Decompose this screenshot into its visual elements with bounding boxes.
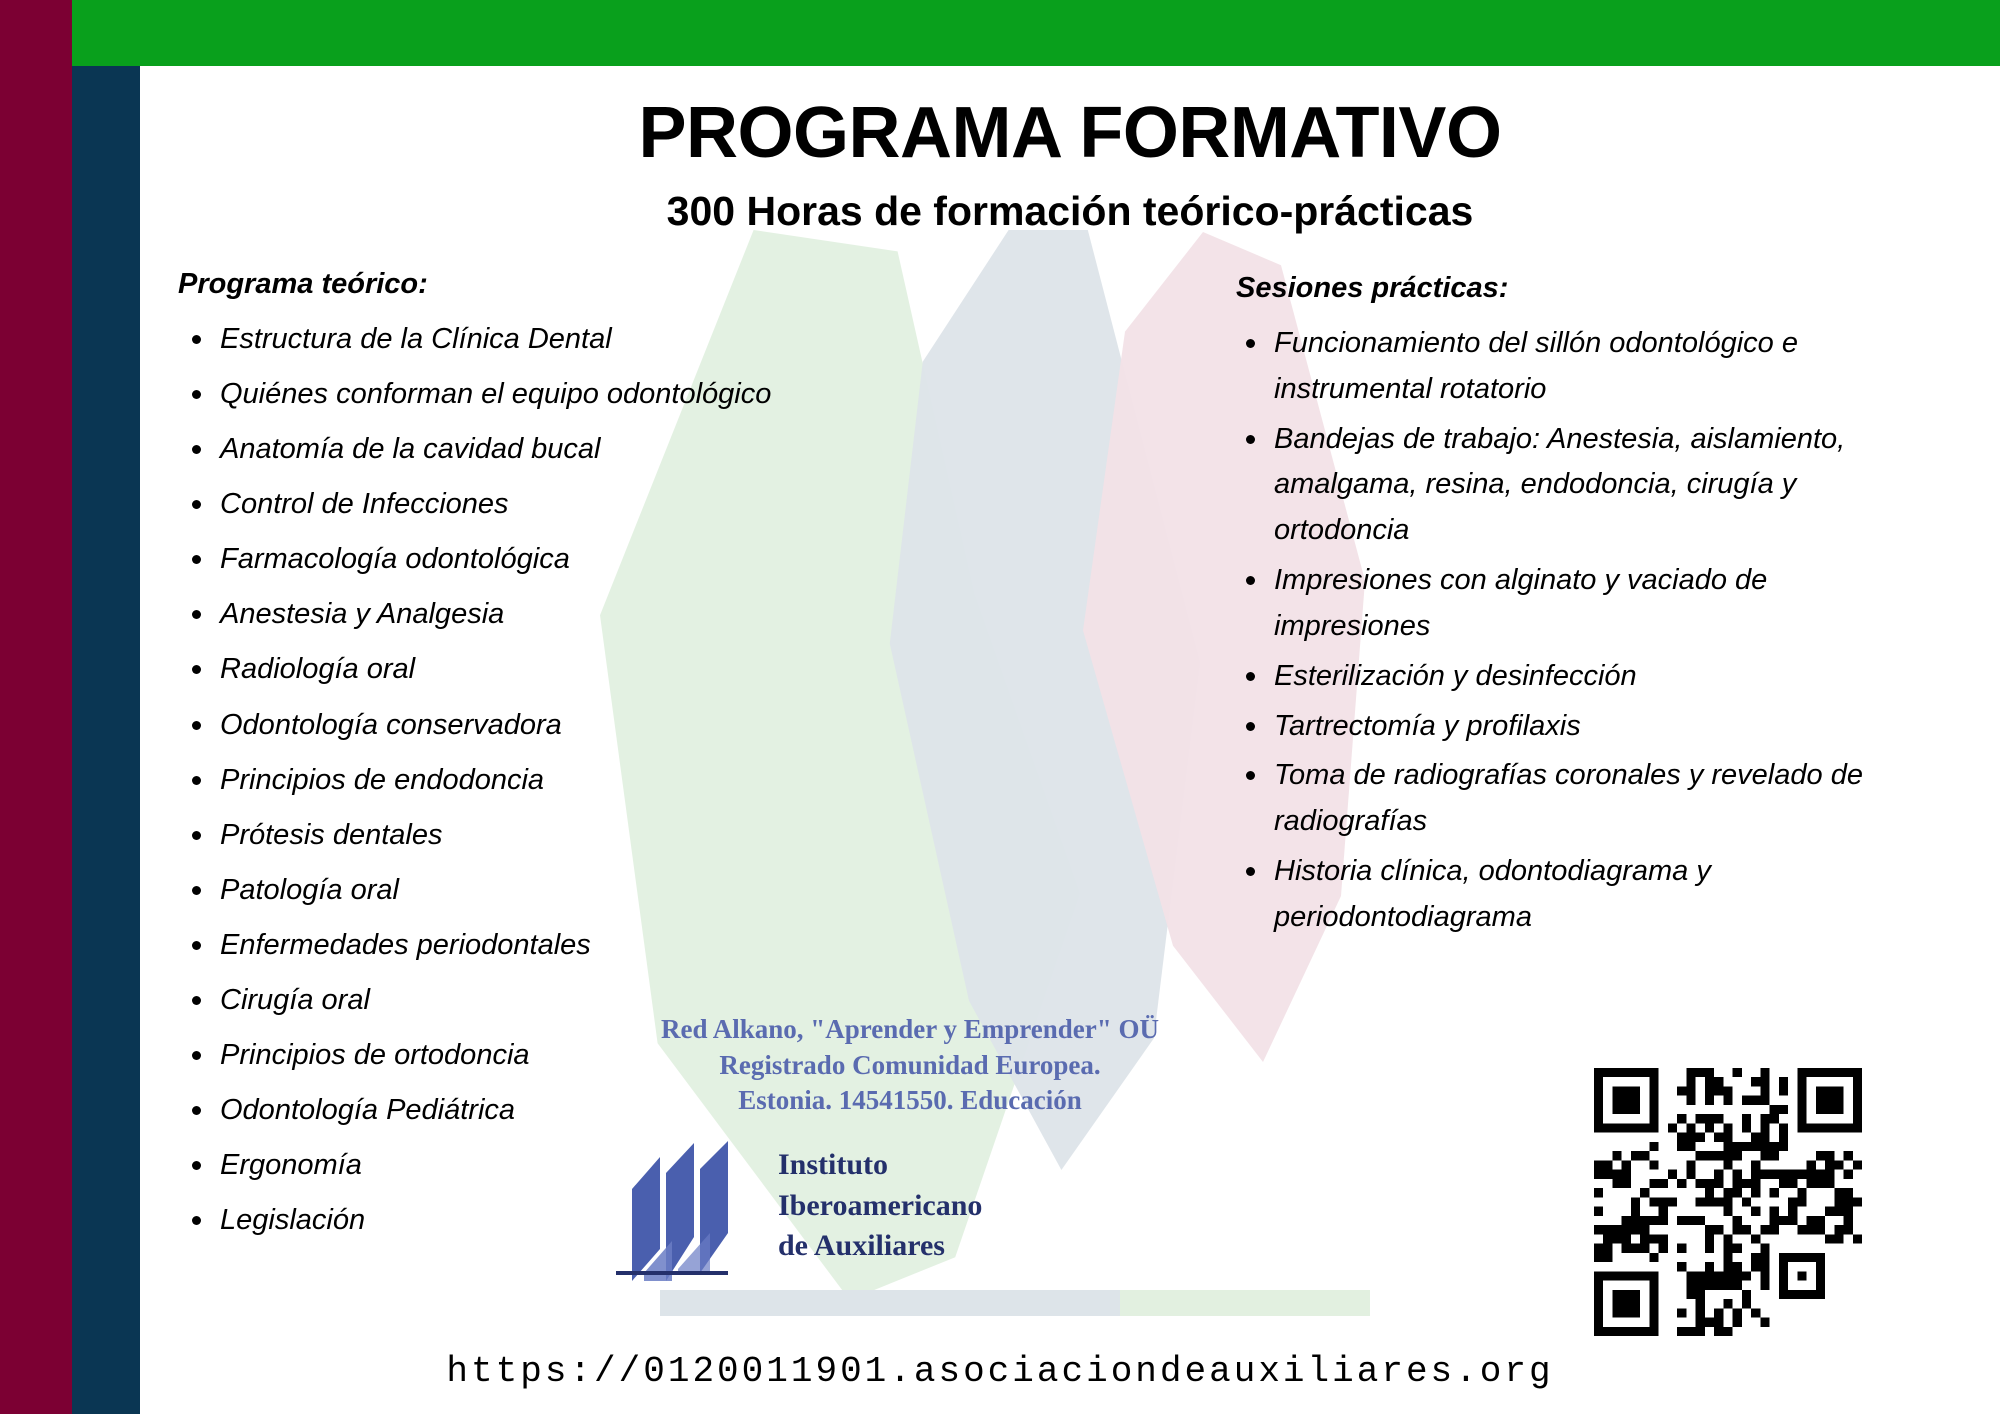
logo-underline — [616, 1271, 728, 1275]
qr-code[interactable] — [1594, 1068, 1862, 1336]
list-item: Farmacología odontológica — [178, 537, 798, 581]
list-item: Quiénes conforman el equipo odontológico — [178, 372, 798, 416]
list-item: Historia clínica, odontodiagrama y perio… — [1232, 849, 1872, 941]
list-item: Anestesia y Analgesia — [178, 592, 798, 636]
logo-bottom-block: Instituto Iberoamericano de Auxiliares — [600, 1133, 1220, 1283]
list-item: Toma de radiografías coronales y revelad… — [1232, 753, 1872, 845]
logo-line-3: Estonia. 14541550. Educación — [600, 1083, 1220, 1119]
list-item: Tartrectomía y profilaxis — [1232, 704, 1872, 750]
list-item: Enfermedades periodontales — [178, 923, 798, 967]
left-navy-bar — [72, 66, 140, 1414]
institute-name-line-2: Iberoamericano — [778, 1186, 982, 1227]
theory-column-heading: Programa teórico: — [178, 268, 798, 301]
logo-line-2: Registrado Comunidad Europea. — [600, 1048, 1220, 1084]
logo-line-1: Red Alkano, "Aprender y Emprender" OÜ — [600, 1012, 1220, 1048]
list-item: Prótesis dentales — [178, 813, 798, 857]
website-url[interactable]: https://0120011901.asociaciondeauxiliare… — [140, 1351, 1860, 1392]
page-subtitle: 300 Horas de formación teórico-prácticas — [140, 188, 2000, 235]
practice-list: Funcionamiento del sillón odontológico e… — [1232, 321, 1872, 941]
practice-column: Sesiones prácticas: Funcionamiento del s… — [1232, 272, 1872, 945]
practice-column-heading: Sesiones prácticas: — [1236, 272, 1872, 305]
institute-name-line-1: Instituto — [778, 1145, 982, 1186]
list-item: Anatomía de la cavidad bucal — [178, 427, 798, 471]
poster-page: PROGRAMA FORMATIVO 300 Horas de formació… — [0, 0, 2000, 1414]
watercolor-strip-blue — [660, 1290, 1120, 1316]
list-item: Estructura de la Clínica Dental — [178, 317, 798, 361]
institute-emblem-icon — [614, 1133, 754, 1281]
list-item: Bandejas de trabajo: Anestesia, aislamie… — [1232, 417, 1872, 554]
list-item: Patología oral — [178, 868, 798, 912]
list-item: Control de Infecciones — [178, 482, 798, 526]
list-item: Odontología conservadora — [178, 703, 798, 747]
left-maroon-bar — [0, 0, 72, 1414]
watercolor-strip-green — [1120, 1290, 1370, 1316]
page-title: PROGRAMA FORMATIVO — [140, 92, 2000, 174]
list-item: Impresiones con alginato y vaciado de im… — [1232, 558, 1872, 650]
institute-name: Instituto Iberoamericano de Auxiliares — [778, 1145, 982, 1267]
organization-logo: Red Alkano, "Aprender y Emprender" OÜ Re… — [600, 1012, 1220, 1283]
list-item: Esterilización y desinfección — [1232, 654, 1872, 700]
list-item: Funcionamiento del sillón odontológico e… — [1232, 321, 1872, 413]
top-green-bar — [72, 0, 2000, 66]
list-item: Principios de endodoncia — [178, 758, 798, 802]
institute-name-line-3: de Auxiliares — [778, 1226, 982, 1267]
list-item: Radiología oral — [178, 647, 798, 691]
logo-registration-text: Red Alkano, "Aprender y Emprender" OÜ Re… — [600, 1012, 1220, 1119]
